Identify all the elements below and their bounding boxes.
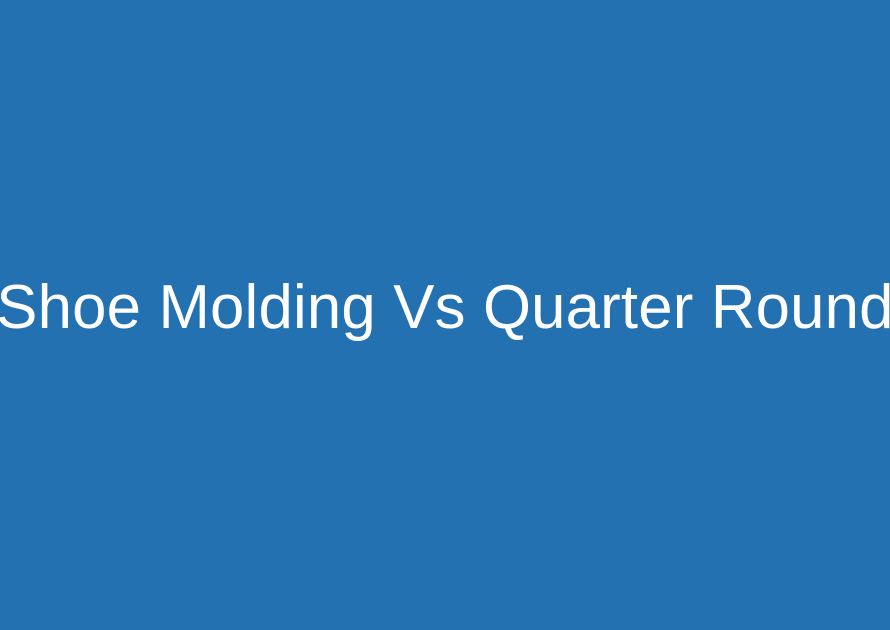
share-image-card: Shoe Molding Vs Quarter Round xyxy=(0,0,890,630)
page-title: Shoe Molding Vs Quarter Round xyxy=(0,274,890,342)
headline-band: Shoe Molding Vs Quarter Round xyxy=(0,274,890,342)
